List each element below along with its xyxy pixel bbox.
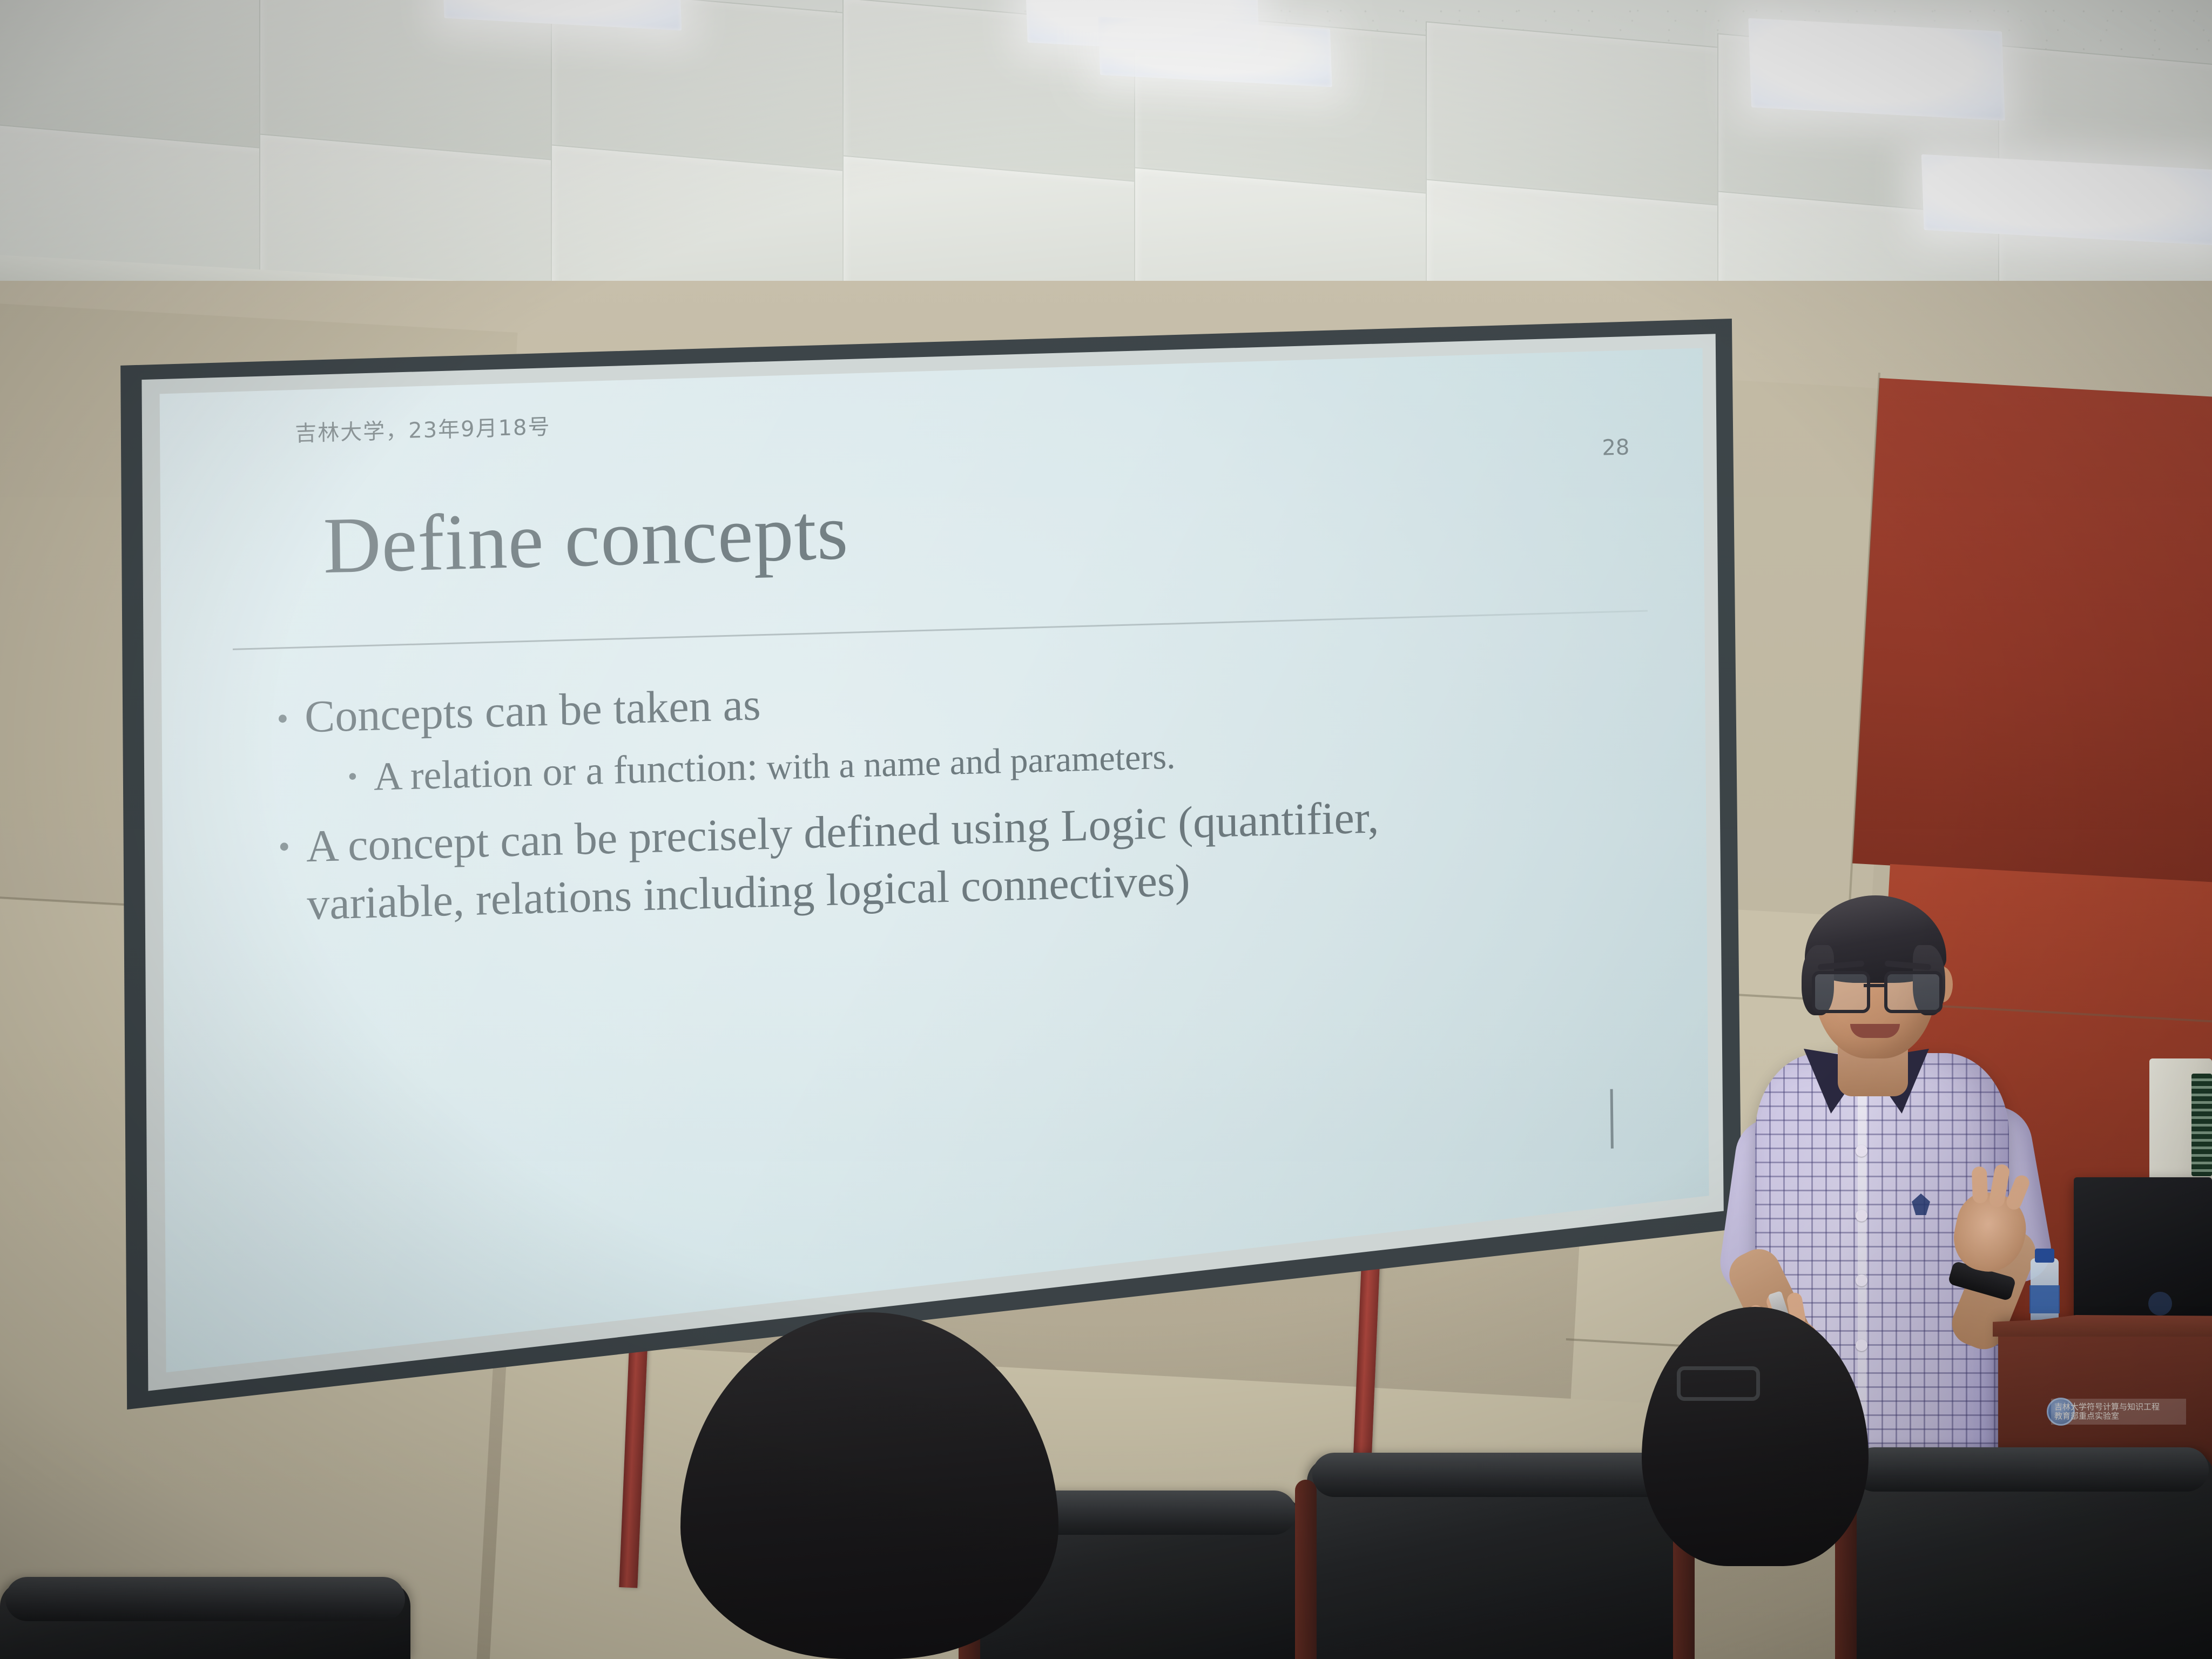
shirt-button — [1856, 1145, 1867, 1157]
presenter-mouth — [1850, 1024, 1900, 1038]
slide-content: 吉林大学，23年9月18号 28 Define concepts • Conce… — [186, 341, 1721, 1322]
finger — [1972, 1166, 1988, 1204]
lecture-hall-photo: 吉林大学，23年9月18号 28 Define concepts • Conce… — [0, 0, 2212, 1659]
glasses-lens-left — [1812, 971, 1870, 1013]
lectern-plaque: 吉林大学符号计算与知识工程 教育部重点实验室 — [2051, 1399, 2186, 1425]
slide-page-number: 28 — [1602, 435, 1629, 460]
slide-sub-bullet-tail: with a name and parameters. — [758, 737, 1176, 788]
slide-bullet-text: Concepts can be taken as — [305, 677, 761, 745]
shirt-button — [1856, 1210, 1867, 1222]
slide-sub-bullet-text: A relation or a function: with a name an… — [374, 731, 1176, 802]
bullet-marker-icon: • — [278, 830, 290, 864]
auditorium-chair-arm — [1295, 1480, 1317, 1659]
air-conditioner-vent — [2191, 1074, 2212, 1176]
ceiling-light-fixture — [1921, 154, 2212, 246]
shirt-button — [1856, 1274, 1867, 1286]
slide-bullet-text-block: A concept can be precisely defined using… — [306, 788, 1380, 934]
audience-glasses-icon — [1677, 1366, 1760, 1401]
auditorium-chair-headrest — [1852, 1447, 2209, 1492]
projection-screen: 吉林大学，23年9月18号 28 Define concepts • Conce… — [111, 319, 1742, 1410]
slide-sub-bullet-head: A relation or a function: — [374, 745, 758, 799]
slide-bullet-item: • A concept can be precisely defined usi… — [278, 781, 1651, 934]
glasses-icon — [1811, 971, 1940, 1009]
water-bottle-cap — [2035, 1249, 2054, 1263]
ceiling-light-fixture — [1748, 18, 2005, 120]
desk-monitor — [2074, 1177, 2212, 1334]
lectern-plaque-line-2: 教育部重点实验室 — [2054, 1412, 2160, 1421]
bullet-marker-icon: • — [276, 702, 288, 736]
auditorium-chair-headrest — [5, 1577, 405, 1621]
slide-title: Define concepts — [323, 486, 849, 592]
shirt-button — [1856, 1339, 1867, 1351]
text-cursor — [1610, 1089, 1614, 1149]
monitor-logo-icon — [2148, 1292, 2172, 1316]
slide-title-divider — [233, 610, 1648, 650]
lectern-plaque-line-1: 吉林大学符号计算与知识工程 — [2054, 1402, 2160, 1412]
wall-panel-red-upper — [1852, 378, 2212, 885]
water-bottle-label — [2029, 1285, 2060, 1313]
slide-bullet-list: • Concepts can be taken as • A relation … — [276, 653, 1651, 945]
slide-header-text: 吉林大学，23年9月18号 — [295, 409, 551, 448]
auditorium-chair-headrest — [1312, 1453, 1674, 1497]
glasses-lens-right — [1884, 971, 1943, 1013]
ceiling-light-fixture — [1098, 17, 1332, 87]
sub-bullet-marker-icon: • — [348, 763, 358, 791]
glasses-bridge — [1864, 984, 1885, 987]
